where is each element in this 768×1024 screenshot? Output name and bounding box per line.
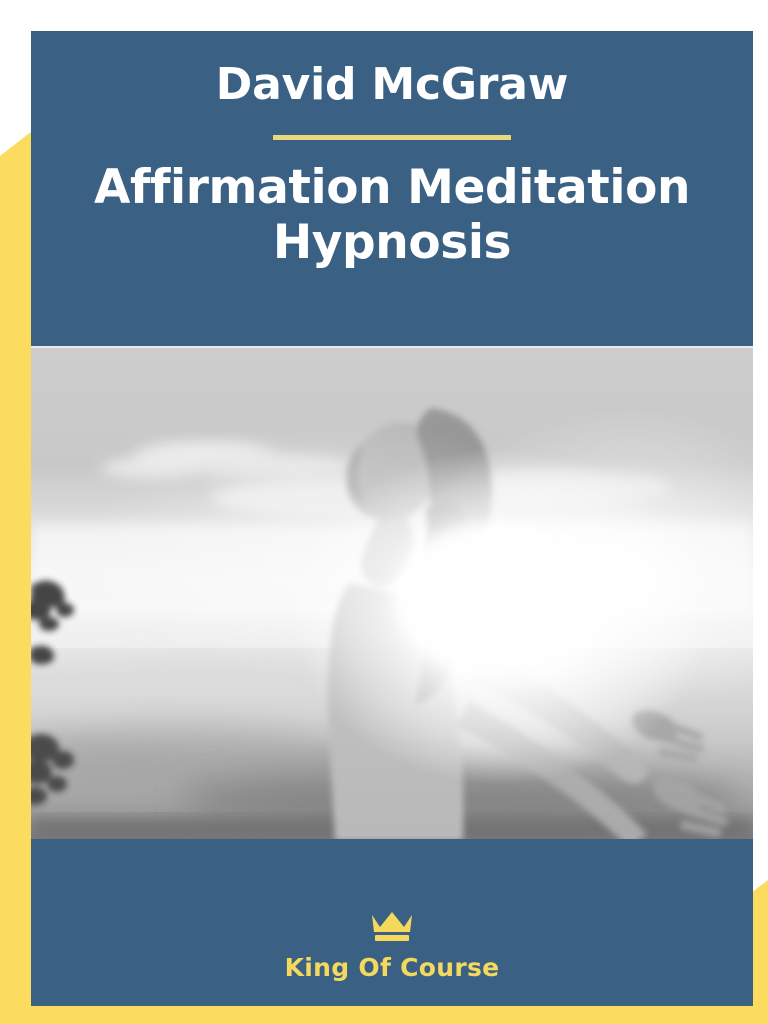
poster-header: David McGraw Affirmation Meditation Hypn… [31, 31, 753, 271]
title-divider [273, 135, 511, 140]
author-name: David McGraw [31, 60, 753, 111]
page-title: Affirmation Meditation Hypnosis [92, 160, 692, 271]
poster-panel: David McGraw Affirmation Meditation Hypn… [31, 31, 753, 1006]
course-poster: David McGraw Affirmation Meditation Hypn… [0, 0, 768, 1024]
brand-name: King Of Course [31, 953, 753, 982]
hero-photo-image [31, 348, 753, 839]
brand-footer: King Of Course [31, 909, 753, 982]
hero-photo [31, 346, 753, 839]
crown-icon [368, 909, 416, 943]
